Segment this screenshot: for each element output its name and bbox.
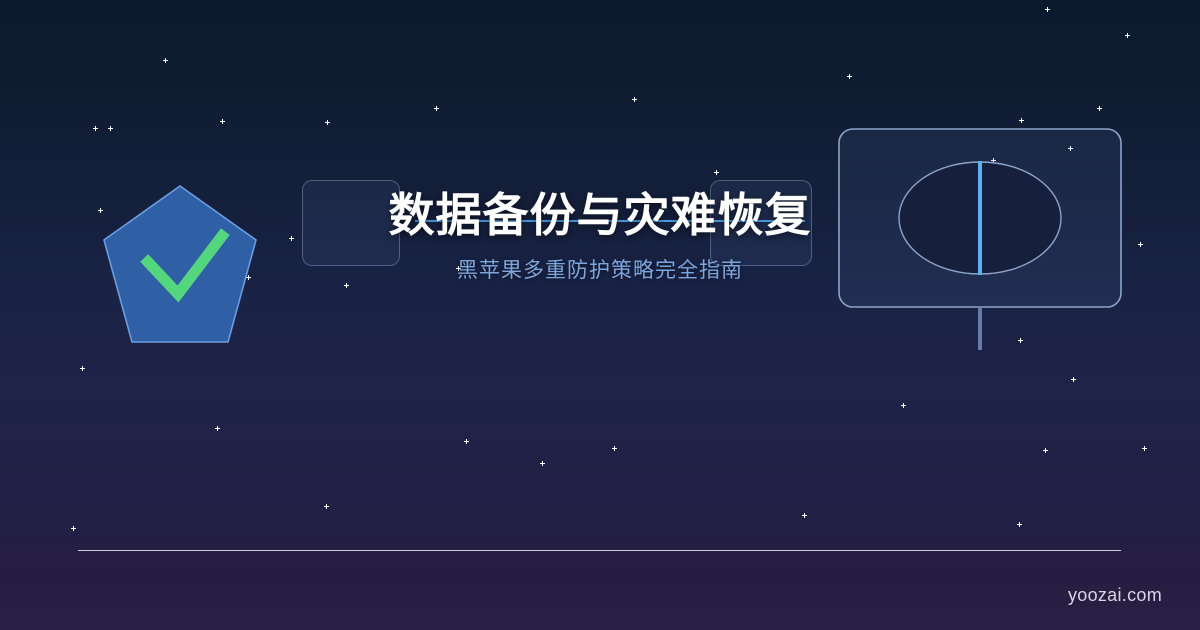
star-particle <box>217 428 218 429</box>
star-particle <box>542 463 543 464</box>
star-particle <box>1019 524 1020 525</box>
star-particle <box>1127 35 1128 36</box>
star-particle <box>95 128 96 129</box>
star-particle <box>614 448 615 449</box>
star-particle <box>222 121 223 122</box>
star-particle <box>165 60 166 61</box>
star-particle <box>1073 379 1074 380</box>
star-particle <box>1099 108 1100 109</box>
star-particle <box>1045 450 1046 451</box>
star-particle <box>436 108 437 109</box>
star-particle <box>110 128 111 129</box>
page-subtitle: 黑苹果多重防护策略完全指南 <box>0 260 1200 281</box>
star-particle <box>346 285 347 286</box>
footer-rule <box>78 550 1121 551</box>
star-particle <box>716 172 717 173</box>
title-block: 数据备份与灾难恢复 黑苹果多重防护策略完全指南 <box>0 192 1200 281</box>
star-particle <box>804 515 805 516</box>
star-particle <box>849 76 850 77</box>
star-particle <box>327 122 328 123</box>
star-particle <box>1144 448 1145 449</box>
star-particle <box>1021 120 1022 121</box>
star-particle <box>903 405 904 406</box>
star-particle <box>73 528 74 529</box>
star-particle <box>82 368 83 369</box>
star-particle <box>326 506 327 507</box>
star-particle <box>466 441 467 442</box>
star-particle <box>634 99 635 100</box>
page-title: 数据备份与灾难恢复 <box>0 192 1200 238</box>
slide-canvas: 数据备份与灾难恢复 黑苹果多重防护策略完全指南 yoozai.com <box>0 0 1200 630</box>
star-particle <box>1047 9 1048 10</box>
watermark: yoozai.com <box>1068 585 1162 606</box>
